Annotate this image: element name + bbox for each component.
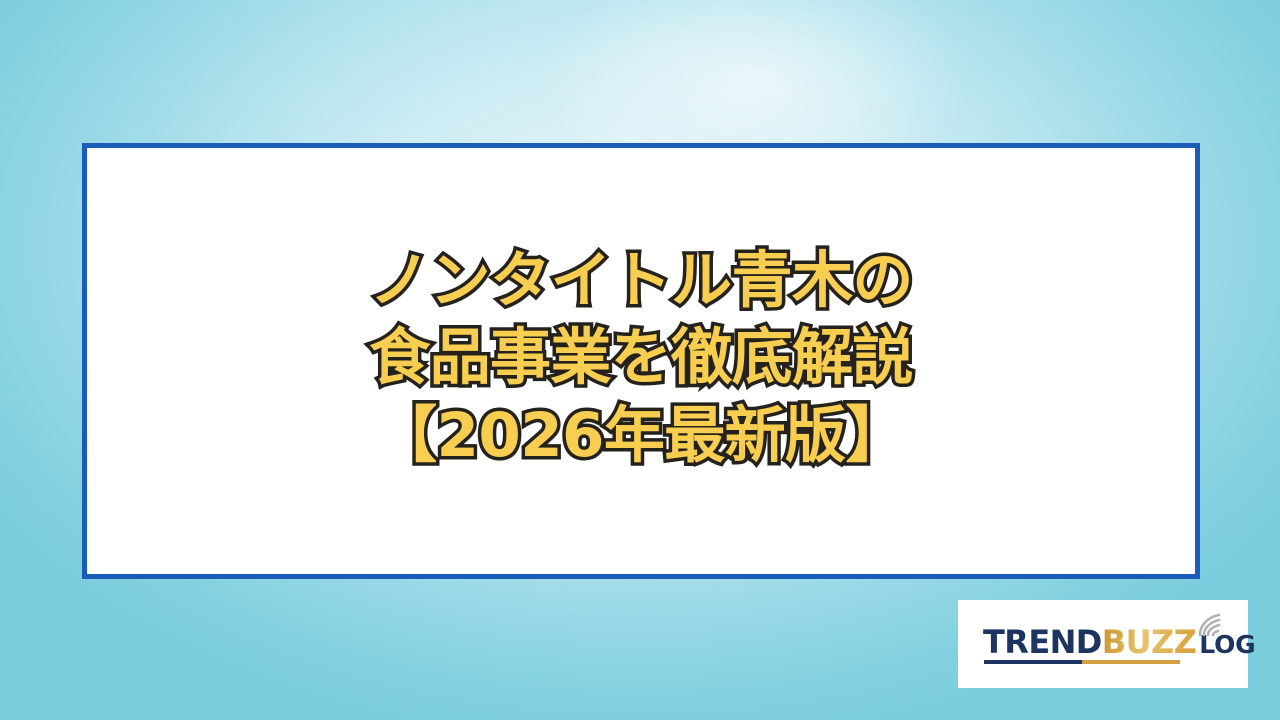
logo-word-buzz: BUZZ — [1102, 626, 1196, 658]
brand-logo-badge[interactable]: TREND BUZZ LOG — [958, 600, 1248, 688]
brand-logo: TREND BUZZ LOG — [983, 618, 1223, 670]
title-line-2: 食品事業を徹底解説 — [87, 319, 1195, 396]
title-line-1: ノンタイトル青木の — [87, 242, 1195, 319]
logo-word-trend: TREND — [983, 626, 1102, 658]
title-line-3: 【2026年最新版】 — [87, 397, 1195, 474]
wifi-signal-icon — [1194, 608, 1228, 638]
content-card: ノンタイトル青木の 食品事業を徹底解説 【2026年最新版】 — [82, 143, 1200, 579]
page-title: ノンタイトル青木の 食品事業を徹底解説 【2026年最新版】 — [87, 242, 1195, 474]
logo-underline-bar — [984, 660, 1180, 664]
